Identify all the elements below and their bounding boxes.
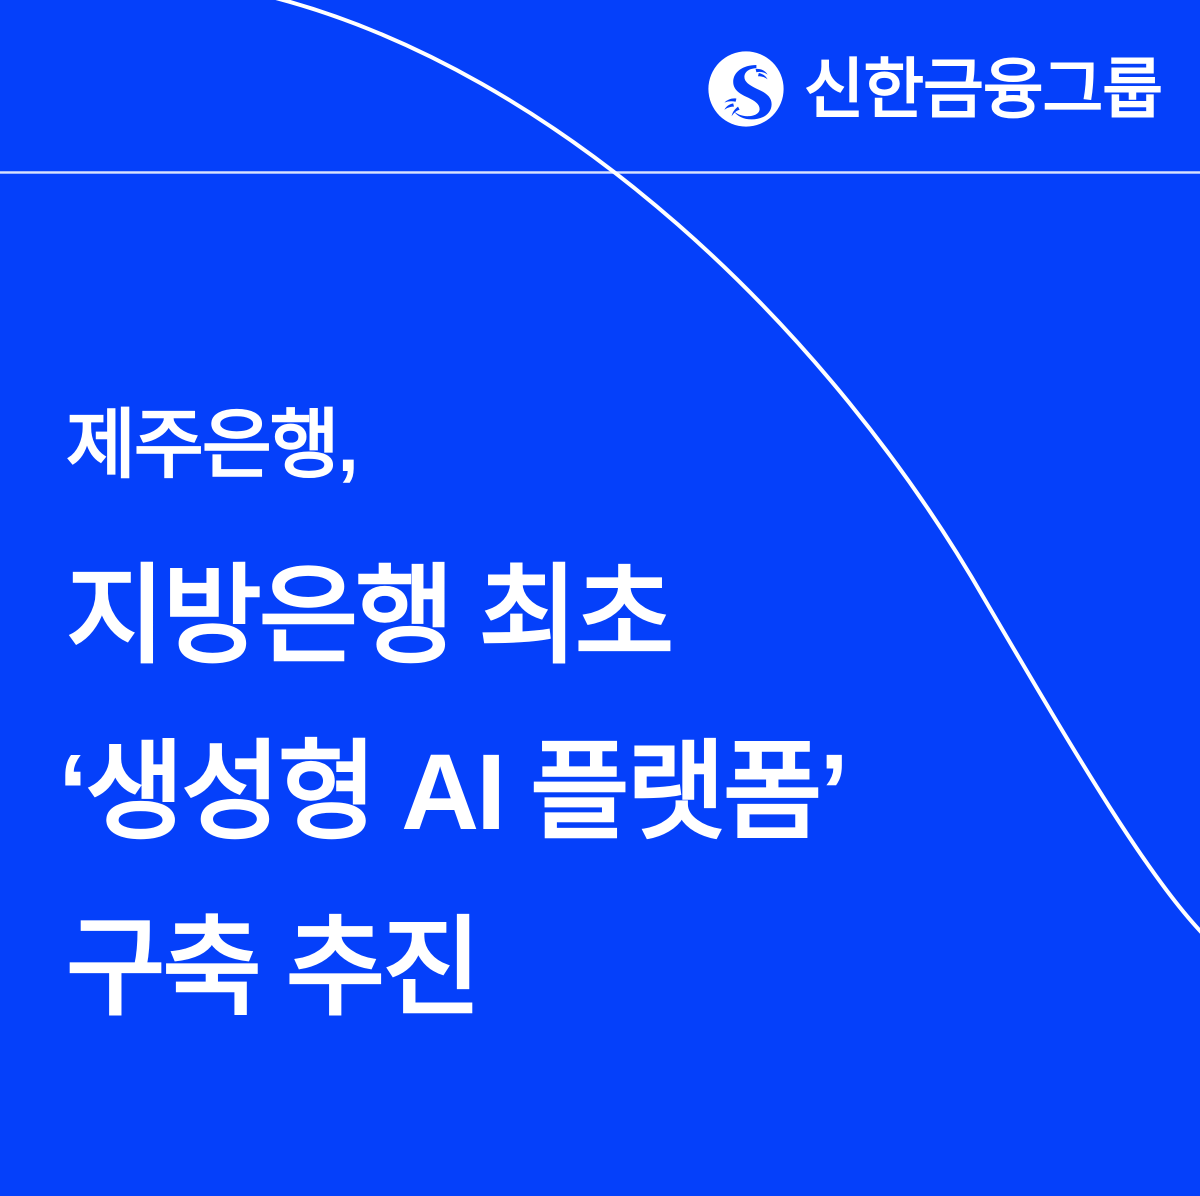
brand-wordmark: 신한금융그룹	[804, 56, 1162, 122]
headline-kicker: 제주은행,	[66, 408, 1066, 484]
shinhan-circle-s-emblem	[706, 49, 786, 129]
header-divider	[0, 171, 1200, 174]
brand-logo[interactable]: 신한금융그룹	[706, 43, 1162, 135]
headline-line-1: 지방은행 최초	[66, 562, 1066, 670]
headline-line-2: ‘생성형 AI 플랫폼’	[58, 738, 1066, 846]
headline-block: 제주은행, 지방은행 최초 ‘생성형 AI 플랫폼’ 구축 추진	[66, 408, 1066, 1022]
headline-line-3: 구축 추진	[66, 914, 1066, 1022]
promo-card: 신한금융그룹 제주은행, 지방은행 최초 ‘생성형 AI 플랫폼’ 구축 추진	[0, 0, 1200, 1196]
